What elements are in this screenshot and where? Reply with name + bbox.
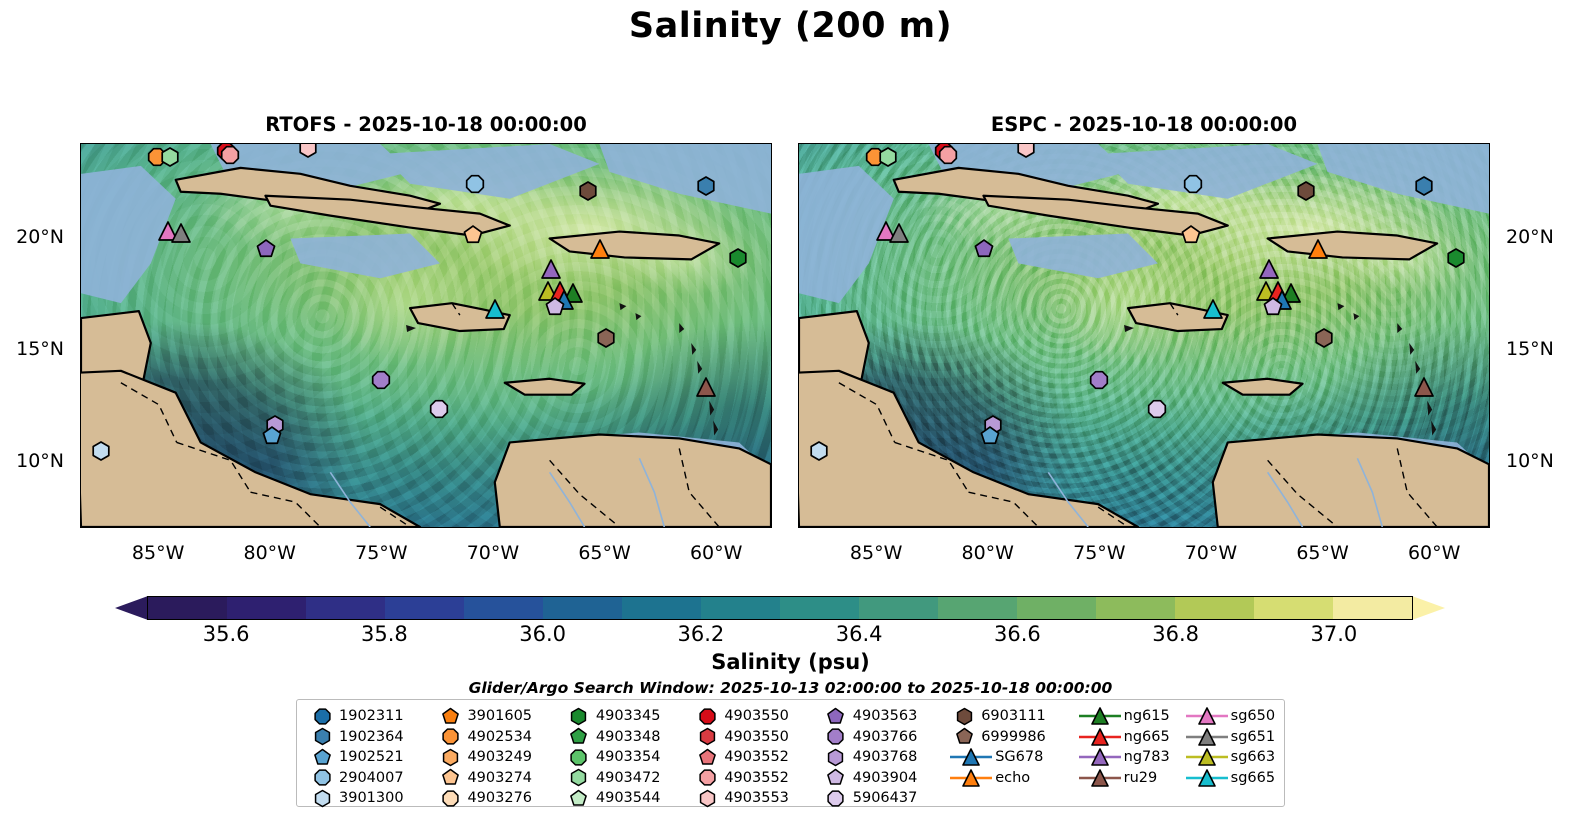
legend-item-label: 4903550 [724, 708, 789, 724]
pentagon-marker-icon [562, 788, 596, 809]
legend-item-label: 4903550 [724, 729, 789, 745]
axis-tick [80, 349, 81, 351]
legend-column-5: 49035634903766490376849039045906437 [819, 706, 947, 802]
legend-item-4903348[interactable]: 4903348 [562, 727, 690, 748]
legend-item-3901300[interactable]: 3901300 [305, 788, 433, 809]
legend-item-ng615[interactable]: ng615 [1076, 706, 1183, 727]
legend-item-label: 1902311 [339, 708, 404, 724]
axis-tick [944, 143, 945, 144]
legend-column-4: 49035504903550490355249035524903553 [690, 706, 818, 802]
panel-title-espc: ESPC - 2025-10-18 00:00:00 [798, 113, 1490, 136]
x-axis-tick-label: 70°W [467, 542, 519, 564]
legend-item-4903544[interactable]: 4903544 [562, 788, 690, 809]
triangle-line-marker-icon [1183, 706, 1231, 726]
axis-tick [1344, 143, 1345, 144]
axis-tick [771, 148, 772, 149]
legend-item-4903276[interactable]: 4903276 [433, 788, 561, 809]
legend-item-4903550[interactable]: 4903550 [690, 706, 818, 727]
marker-1902521[interactable] [979, 424, 1002, 447]
legend-item-6903111[interactable]: 6903111 [947, 706, 1075, 727]
x-axis-tick-label: 75°W [355, 542, 407, 564]
y-axis-tick-label: 10°N [16, 450, 64, 472]
axis-tick [80, 505, 81, 506]
marker-4903552[interactable] [936, 143, 959, 166]
hexagon-marker-icon [562, 767, 596, 788]
axis-tick [771, 238, 772, 240]
axis-tick [137, 143, 138, 144]
legend-item-1902521[interactable]: 1902521 [305, 747, 433, 768]
colorbar-band [1175, 597, 1254, 619]
axis-tick [771, 393, 772, 394]
x-axis-labels-left: 85°W80°W75°W70°W65°W60°W [80, 528, 772, 568]
legend-item-label: ng783 [1124, 749, 1170, 765]
y-axis-tick-label: 20°N [16, 226, 64, 248]
axis-tick [560, 143, 561, 144]
axis-tick [471, 143, 472, 144]
legend-item-1902364[interactable]: 1902364 [305, 727, 433, 748]
legend-item-label: 4903472 [596, 770, 661, 786]
axis-tick [798, 193, 799, 194]
axis-tick [80, 238, 81, 240]
colorbar-band [1017, 597, 1096, 619]
axis-tick [337, 143, 338, 144]
pentagon-marker-icon [433, 706, 467, 727]
pentagon-marker-icon [433, 767, 467, 788]
legend-item-label: 3901605 [467, 708, 532, 724]
axis-tick [181, 143, 182, 144]
colorbar-band [859, 597, 938, 619]
axis-tick [771, 171, 772, 172]
legend-item-6999986[interactable]: 6999986 [947, 727, 1075, 748]
legend-item-sg665[interactable]: sg665 [1183, 768, 1280, 789]
legend-column-7: ng615ng665ng783ru29 [1076, 706, 1183, 802]
legend-item-label: sg650 [1231, 708, 1275, 724]
coastline-layer [81, 144, 771, 527]
marker-6903111[interactable] [1295, 179, 1318, 202]
axis-tick [1255, 143, 1256, 144]
marker-5906437[interactable] [1146, 397, 1169, 420]
marker-1902364[interactable] [1413, 175, 1436, 198]
axis-tick [80, 215, 81, 216]
legend-item-4903552[interactable]: 4903552 [690, 747, 818, 768]
axis-tick [771, 327, 772, 328]
legend-item-label: ng665 [1124, 729, 1170, 745]
axis-tick [203, 143, 204, 144]
legend-column-1: 19023111902364190252129040073901300 [305, 706, 433, 802]
axis-tick [798, 148, 799, 149]
legend-column-2: 39016054902534490324949032744903276 [433, 706, 561, 802]
axis-tick [159, 143, 161, 144]
axis-tick [798, 393, 799, 394]
axis-tick [798, 460, 799, 462]
legend-item-4903249[interactable]: 4903249 [433, 747, 561, 768]
octagon-marker-icon [433, 788, 467, 809]
marker-echo[interactable] [588, 237, 611, 260]
axis-tick [771, 416, 772, 417]
legend-item-SG678[interactable]: SG678 [947, 747, 1075, 768]
axis-tick [1010, 143, 1011, 144]
legend-item-label: 5906437 [853, 790, 918, 806]
legend-item-sg663[interactable]: sg663 [1183, 747, 1280, 768]
axis-tick [798, 171, 799, 172]
x-axis-tick-label: 70°W [1185, 542, 1237, 564]
axis-tick [771, 505, 772, 506]
marker-2904007[interactable] [1181, 172, 1204, 195]
axis-tick [404, 143, 405, 144]
legend-item-1902311[interactable]: 1902311 [305, 706, 433, 727]
axis-tick [760, 143, 761, 144]
axis-tick [80, 282, 81, 283]
marker-4903274[interactable] [1179, 224, 1202, 247]
map-panel-rtofs: RTOFS - 2025-10-18 00:00:00 [80, 143, 772, 528]
axis-tick [80, 148, 81, 149]
axis-tick [1099, 143, 1101, 144]
legend-item-label: 4903354 [596, 749, 661, 765]
hexagon-marker-icon [305, 726, 339, 747]
axis-tick [315, 143, 316, 144]
axis-tick [537, 143, 538, 144]
axis-tick [80, 193, 81, 194]
legend-item-label: 4903768 [853, 749, 918, 765]
hexagon-marker-icon [305, 788, 339, 809]
marker-6999986[interactable] [595, 326, 618, 349]
marker-2904007[interactable] [463, 172, 486, 195]
axis-tick [1478, 143, 1479, 144]
axis-tick [582, 143, 583, 144]
axis-tick [798, 505, 799, 506]
hexagon-marker-icon [690, 788, 724, 809]
axis-tick [798, 482, 799, 483]
marker-sg665[interactable] [1201, 297, 1224, 320]
axis-tick [855, 143, 856, 144]
axis-tick [738, 143, 739, 144]
legend-column-6: 69031116999986SG678echo [947, 706, 1075, 802]
legend-item-ng665[interactable]: ng665 [1076, 727, 1183, 748]
x-axis-labels-right: 85°W80°W75°W70°W65°W60°W [798, 528, 1490, 568]
legend-item-label: 4903274 [467, 770, 532, 786]
octagon-marker-icon [562, 747, 596, 768]
legend-column-3: 49033454903348490335449034724903544 [562, 706, 690, 802]
legend-item-label: 4903345 [596, 708, 661, 724]
x-axis-tick-label: 60°W [1408, 542, 1460, 564]
map-canvas-espc[interactable] [798, 143, 1490, 528]
legend-caption: Glider/Argo Search Window: 2025-10-13 02… [0, 679, 1581, 697]
legend-item-label: echo [995, 770, 1030, 786]
marker-4903553[interactable] [1014, 143, 1037, 160]
axis-tick [1278, 143, 1279, 144]
legend-item-4903563[interactable]: 4903563 [819, 706, 947, 727]
pentagon-marker-icon [819, 706, 853, 727]
colorbar-band [701, 597, 780, 619]
legend-item-label: 4903544 [596, 790, 661, 806]
octagon-marker-icon [305, 767, 339, 788]
axis-tick [80, 304, 81, 305]
axis-tick [1433, 143, 1435, 144]
axis-tick [80, 416, 81, 417]
y-axis-tick-label: 15°N [1506, 338, 1554, 360]
axis-tick [798, 304, 799, 305]
legend-item-4903904[interactable]: 4903904 [819, 768, 947, 789]
octagon-marker-icon [819, 726, 853, 747]
legend-item-echo[interactable]: echo [947, 768, 1075, 789]
marker-5906437[interactable] [428, 397, 451, 420]
legend-item-4903768[interactable]: 4903768 [819, 747, 947, 768]
colorbar-tick-label: 36.4 [836, 622, 883, 646]
axis-tick [80, 460, 81, 462]
colorbar-label: Salinity (psu) [0, 650, 1581, 674]
axis-tick [771, 482, 772, 483]
axis-tick [1055, 143, 1056, 144]
colorbar-extend-high [1412, 596, 1445, 620]
legend-item-3901605[interactable]: 3901605 [433, 706, 561, 727]
axis-tick [80, 482, 81, 483]
colorbar-band [622, 597, 701, 619]
colorbar-band [1254, 597, 1333, 619]
legend-item-label: 4903563 [853, 708, 918, 724]
colorbar-tick-label: 36.6 [994, 622, 1041, 646]
x-axis-tick-label: 80°W [962, 542, 1014, 564]
legend-item-label: 3901300 [339, 790, 404, 806]
axis-tick [899, 143, 900, 144]
hexagon-marker-icon [562, 706, 596, 727]
axis-tick [771, 460, 772, 462]
triangle-line-marker-icon [947, 768, 995, 788]
legend-item-4903354[interactable]: 4903354 [562, 747, 690, 768]
axis-tick [715, 143, 717, 144]
legend-item-label: 1902364 [339, 729, 404, 745]
legend-item-4903345[interactable]: 4903345 [562, 706, 690, 727]
legend-item-4903553[interactable]: 4903553 [690, 788, 818, 809]
marker-4903904[interactable] [543, 295, 566, 318]
axis-tick [1211, 143, 1213, 144]
axis-tick [798, 349, 799, 351]
axis-tick [798, 438, 799, 439]
colorbar-band [227, 597, 306, 619]
x-axis-tick-label: 65°W [1296, 542, 1348, 564]
legend-item-ru29[interactable]: ru29 [1076, 768, 1183, 789]
pentagon-marker-icon [690, 747, 724, 768]
marker-6903111[interactable] [577, 179, 600, 202]
axis-tick [448, 143, 449, 144]
legend-column-8: sg650sg651sg663sg665 [1183, 706, 1280, 802]
coastline-layer [799, 144, 1489, 527]
legend-item-label: 4902534 [467, 729, 532, 745]
axis-tick [771, 371, 772, 372]
legend-item-label: sg663 [1231, 749, 1275, 765]
axis-tick [1411, 143, 1412, 144]
marker-ru29[interactable] [1413, 375, 1436, 398]
axis-tick [80, 171, 81, 172]
colorbar-tick-label: 35.6 [203, 622, 250, 646]
marker-4903904[interactable] [1261, 295, 1284, 318]
marker-sg651[interactable] [169, 221, 192, 244]
axis-tick [693, 143, 694, 144]
x-axis-tick-label: 85°W [132, 542, 184, 564]
legend-item-label: 4903766 [853, 729, 918, 745]
legend-item-2904007[interactable]: 2904007 [305, 768, 433, 789]
axis-tick [226, 143, 227, 144]
axis-tick [798, 371, 799, 372]
axis-tick [810, 143, 811, 144]
legend-item-label: 4903249 [467, 749, 532, 765]
axis-tick [798, 260, 799, 261]
legend-item-5906437[interactable]: 5906437 [819, 788, 947, 809]
page-title: Salinity (200 m) [0, 6, 1581, 46]
legend-item-label: sg665 [1231, 770, 1275, 786]
axis-tick [966, 143, 967, 144]
legend-item-4903552[interactable]: 4903552 [690, 768, 818, 789]
axis-tick [604, 143, 606, 144]
legend-item-label: 6999986 [981, 729, 1046, 745]
colorbar-band [148, 597, 227, 619]
marker-ng783[interactable] [539, 257, 562, 280]
legend-item-ng783[interactable]: ng783 [1076, 747, 1183, 768]
axis-tick [798, 215, 799, 216]
colorbar-band [464, 597, 543, 619]
colorbar-tick-label: 36.0 [519, 622, 566, 646]
axis-tick [1189, 143, 1190, 144]
colorbar-band [385, 597, 464, 619]
axis-tick [1033, 143, 1034, 144]
colorbar-band [1333, 597, 1412, 619]
axis-tick [80, 371, 81, 372]
axis-tick [771, 260, 772, 261]
marker-3901300[interactable] [89, 440, 112, 463]
marker-4903563[interactable] [254, 237, 277, 260]
legend-item-label: 4903552 [724, 749, 789, 765]
triangle-line-marker-icon [1183, 727, 1231, 747]
marker-4903345[interactable] [726, 246, 749, 269]
axis-tick [798, 238, 799, 240]
marker-ng783[interactable] [1257, 257, 1280, 280]
axis-tick [515, 143, 516, 144]
legend-item-label: ru29 [1124, 770, 1158, 786]
hexagon-marker-icon [433, 747, 467, 768]
legend-item-sg650[interactable]: sg650 [1183, 706, 1280, 727]
colorbar-tick-label: 37.0 [1310, 622, 1357, 646]
triangle-line-marker-icon [1076, 768, 1124, 788]
legend-item-4902534[interactable]: 4902534 [433, 727, 561, 748]
octagon-marker-icon [690, 767, 724, 788]
marker-sg651[interactable] [887, 221, 910, 244]
marker-4903472[interactable] [876, 146, 899, 169]
triangle-line-marker-icon [1076, 727, 1124, 747]
axis-tick [771, 215, 772, 216]
marker-4903563[interactable] [972, 237, 995, 260]
marker-4903553[interactable] [296, 143, 319, 160]
legend-item-label: 4903553 [724, 790, 789, 806]
legend-item-label: 4903552 [724, 770, 789, 786]
pentagon-marker-icon [305, 747, 339, 768]
map-panel-espc: ESPC - 2025-10-18 00:00:00 [798, 143, 1490, 528]
octagon-marker-icon [305, 706, 339, 727]
marker-6999986[interactable] [1313, 326, 1336, 349]
legend-item-4903766[interactable]: 4903766 [819, 727, 947, 748]
colorbar-band [780, 597, 859, 619]
axis-tick [114, 143, 115, 144]
axis-tick [381, 143, 383, 144]
colorbar-band [1096, 597, 1175, 619]
colorbar-tick-label: 36.8 [1152, 622, 1199, 646]
marker-3901300[interactable] [807, 440, 830, 463]
hexagon-marker-icon [947, 706, 981, 727]
x-axis-tick-label: 80°W [244, 542, 296, 564]
axis-tick [832, 143, 833, 144]
hexagon-marker-icon [819, 747, 853, 768]
marker-1902364[interactable] [695, 175, 718, 198]
axis-tick [1389, 143, 1390, 144]
marker-4903345[interactable] [1444, 246, 1467, 269]
pentagon-marker-icon [562, 726, 596, 747]
colorbar-tick-label: 36.2 [677, 622, 724, 646]
axis-tick [771, 349, 772, 351]
axis-tick [877, 143, 879, 144]
triangle-line-marker-icon [947, 747, 995, 767]
map-canvas-rtofs[interactable] [80, 143, 772, 528]
x-axis-tick-label: 75°W [1073, 542, 1125, 564]
axis-tick [80, 393, 81, 394]
axis-tick [1367, 143, 1368, 144]
axis-tick [771, 193, 772, 194]
y-axis-tick-label: 15°N [16, 338, 64, 360]
triangle-line-marker-icon [1183, 747, 1231, 767]
legend-item-4903274[interactable]: 4903274 [433, 768, 561, 789]
legend-item-sg651[interactable]: sg651 [1183, 727, 1280, 748]
axis-tick [1122, 143, 1123, 144]
legend-item-4903472[interactable]: 4903472 [562, 768, 690, 789]
axis-tick [921, 143, 922, 144]
legend-box[interactable]: 1902311190236419025212904007390130039016… [296, 699, 1285, 807]
axis-tick [80, 327, 81, 328]
pentagon-marker-icon [947, 726, 981, 747]
legend-item-label: SG678 [995, 749, 1043, 765]
marker-4903766[interactable] [370, 368, 393, 391]
axis-tick [493, 143, 495, 144]
axis-tick [771, 282, 772, 283]
legend-item-label: 4903276 [467, 790, 532, 806]
axis-tick [248, 143, 249, 144]
legend-item-label: 6903111 [981, 708, 1046, 724]
axis-tick [1322, 143, 1324, 144]
legend-item-label: 4903904 [853, 770, 918, 786]
x-axis-tick-label: 85°W [850, 542, 902, 564]
marker-4903472[interactable] [158, 146, 181, 169]
marker-4903274[interactable] [461, 224, 484, 247]
colorbar-band [543, 597, 622, 619]
axis-tick [1456, 143, 1457, 144]
legend-item-label: 2904007 [339, 770, 404, 786]
x-axis-tick-label: 60°W [690, 542, 742, 564]
x-axis-tick-label: 65°W [578, 542, 630, 564]
marker-echo[interactable] [1306, 237, 1329, 260]
pentagon-marker-icon [819, 767, 853, 788]
axis-tick [270, 143, 272, 144]
legend-item-4903550[interactable]: 4903550 [690, 727, 818, 748]
axis-tick [649, 143, 650, 144]
legend-item-label: 1902521 [339, 749, 404, 765]
marker-sg665[interactable] [483, 297, 506, 320]
axis-tick [1144, 143, 1145, 144]
colorbar-band [306, 597, 385, 619]
axis-tick [1077, 143, 1078, 144]
marker-4903552[interactable] [218, 143, 241, 166]
marker-4903766[interactable] [1088, 368, 1111, 391]
legend-item-label: sg651 [1231, 729, 1275, 745]
axis-tick [771, 304, 772, 305]
marker-ru29[interactable] [695, 375, 718, 398]
axis-tick [80, 438, 81, 439]
marker-1902521[interactable] [261, 424, 284, 447]
